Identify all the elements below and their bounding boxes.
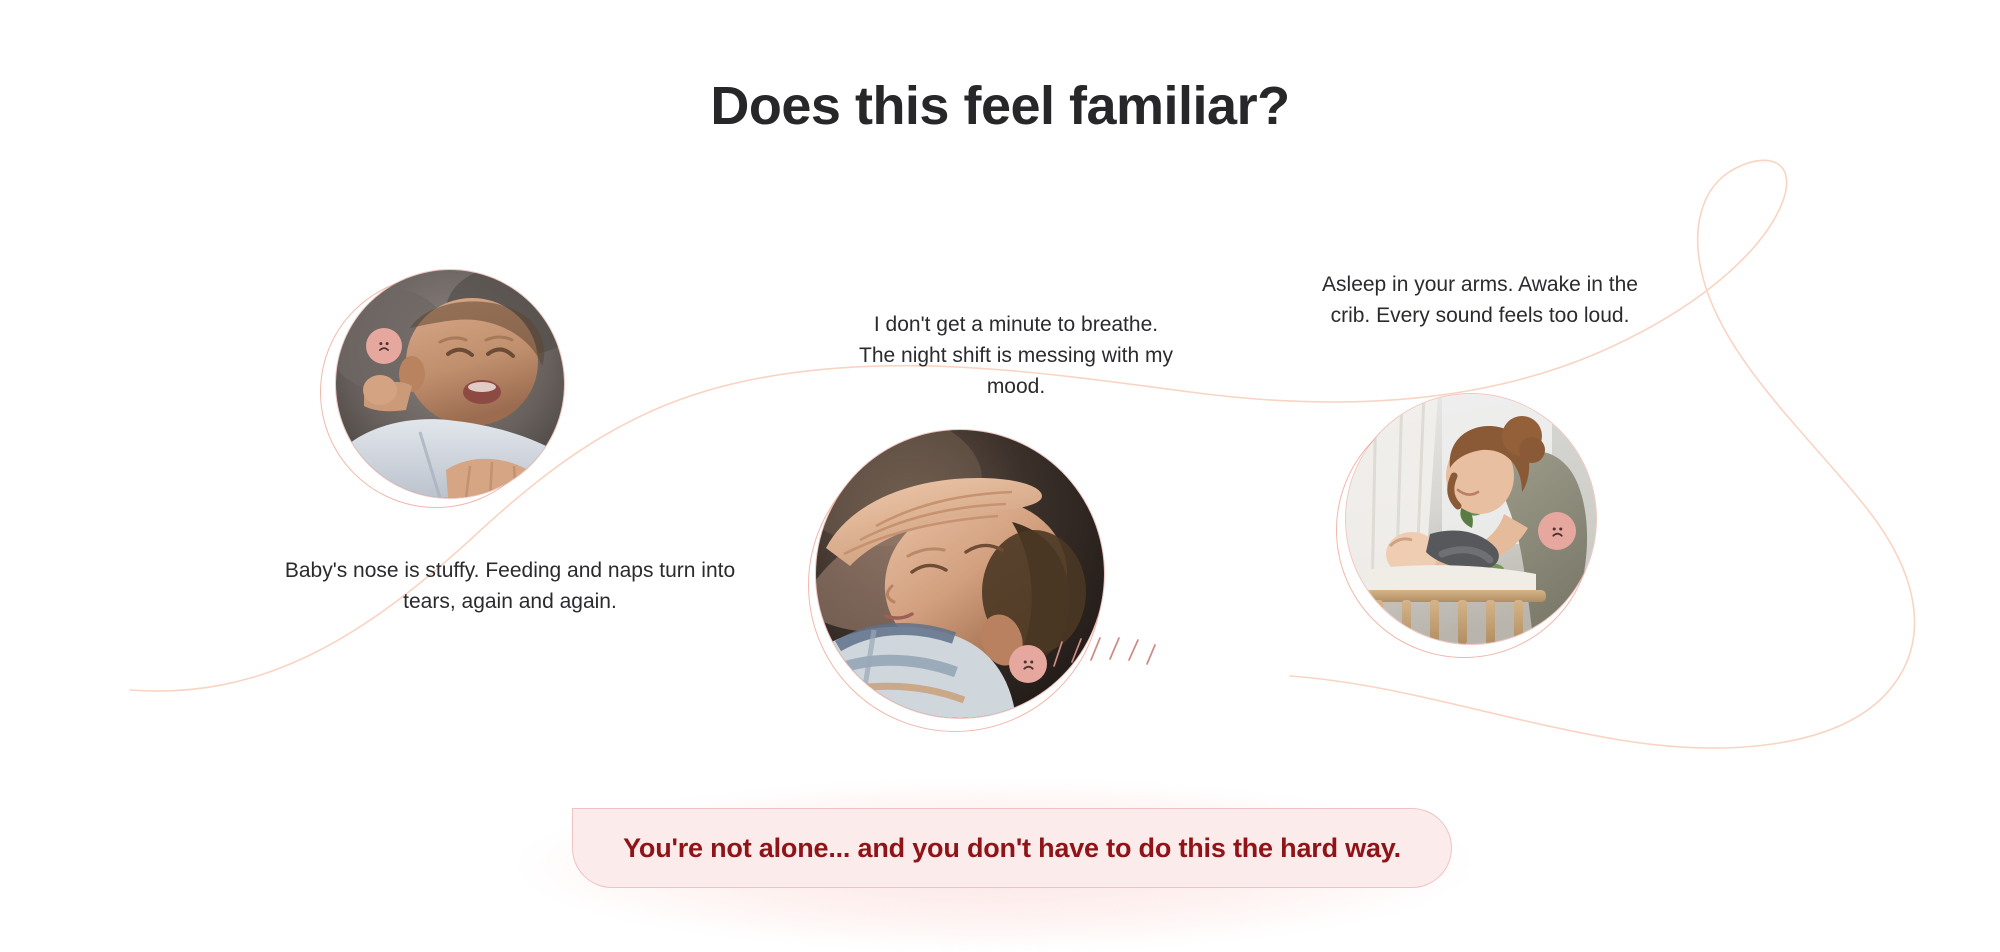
page-root: Does this feel familiar? <box>0 0 2000 952</box>
sad-face-badge <box>366 328 402 364</box>
page-title: Does this feel familiar? <box>0 75 2000 137</box>
card-3-photo-wrap <box>1346 394 1596 644</box>
banner-text: You're not alone... and you don't have t… <box>623 833 1401 864</box>
card-1-caption: Baby's nose is stuffy. Feeding and naps … <box>282 556 738 618</box>
sad-face-icon <box>373 335 395 357</box>
card-2-photo-wrap <box>816 430 1104 718</box>
card-2-caption: I don't get a minute to breathe. The nig… <box>856 310 1176 403</box>
sad-face-icon <box>1017 653 1040 676</box>
card-1-photo-wrap <box>330 270 690 498</box>
card-1-photo <box>336 270 564 498</box>
card-2-photo <box>816 430 1104 718</box>
sad-face-badge <box>1009 645 1047 683</box>
crying-baby-photo <box>336 270 564 498</box>
sleeping-baby-with-hand-on-forehead-photo <box>816 430 1104 718</box>
sad-face-icon <box>1546 520 1569 543</box>
card-3-caption: Asleep in your arms. Awake in the crib. … <box>1310 270 1650 332</box>
reassurance-banner: You're not alone... and you don't have t… <box>572 808 1452 888</box>
sad-face-badge <box>1538 512 1576 550</box>
symptom-card-1: Baby's nose is stuffy. Feeding and naps … <box>330 270 690 498</box>
